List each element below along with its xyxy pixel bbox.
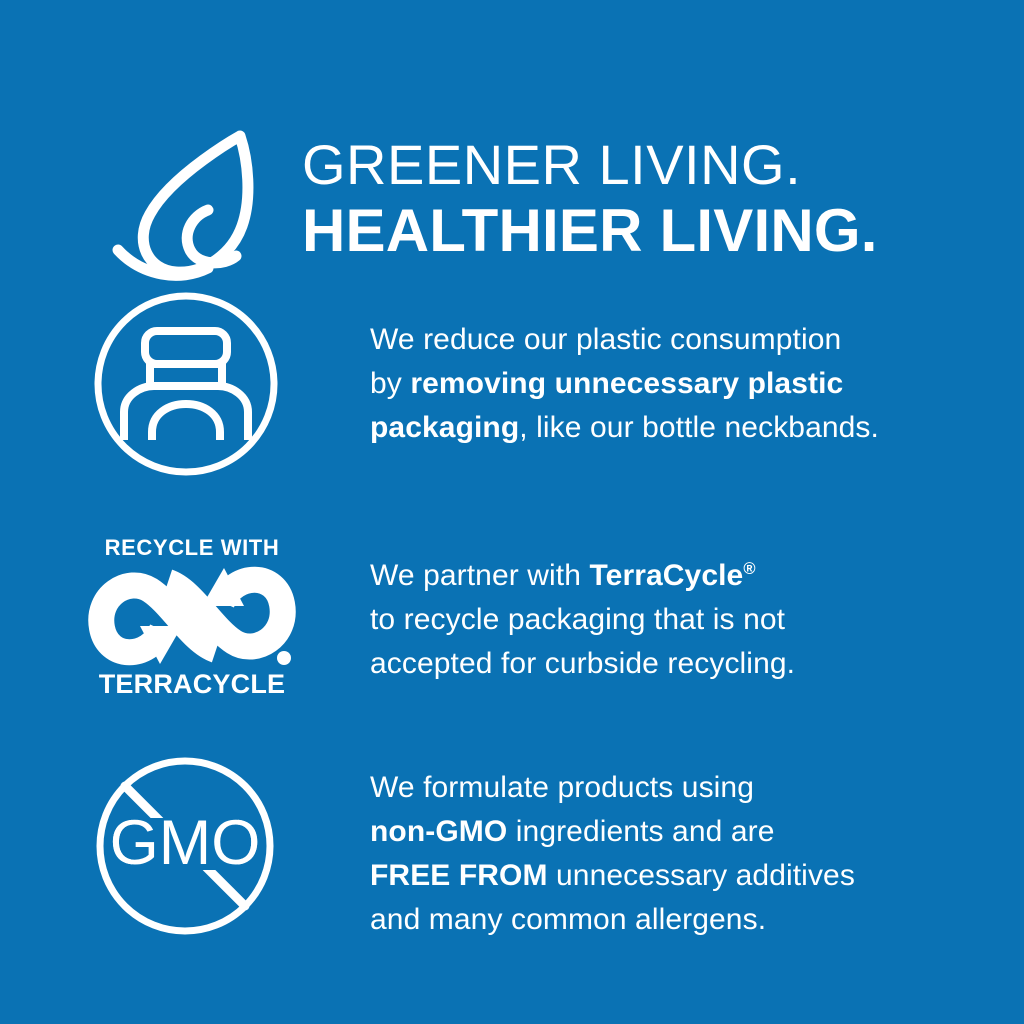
benefit-line: and many common allergens.: [370, 898, 990, 942]
benefit-text: accepted for curbside recycling.: [370, 647, 795, 680]
header-title-group: GREENER LIVING. HEALTHIER LIVING.: [302, 134, 1002, 264]
benefit-text-terracycle: We partner with TerraCycle®to recycle pa…: [370, 554, 990, 686]
page-title-line-2: HEALTHIER LIVING.: [302, 198, 1002, 264]
benefit-line: non-GMO ingredients and are: [370, 810, 990, 854]
benefit-line: We reduce our plastic consumption: [370, 318, 990, 362]
benefit-text: and many common allergens.: [370, 903, 766, 936]
benefit-line: FREE FROM unnecessary additives: [370, 854, 990, 898]
no-gmo-icon: GMO GMO: [92, 758, 292, 958]
benefit-line: packaging, like our bottle neckbands.: [370, 406, 990, 450]
benefit-text: to recycle packaging that is not: [370, 603, 785, 636]
benefit-emphasis: removing unnecessary plastic: [410, 367, 843, 400]
benefit-line: by removing unnecessary plastic: [370, 362, 990, 406]
benefit-emphasis: FREE FROM: [370, 859, 548, 892]
benefit-text: We reduce our plastic consumption: [370, 323, 841, 356]
benefit-text: We formulate products using: [370, 771, 754, 804]
benefit-row-terracycle: RECYCLE WITH: [0, 528, 1024, 718]
benefit-line: We formulate products using: [370, 766, 990, 810]
benefit-text: unnecessary additives: [548, 859, 855, 892]
bottle-neckband-icon: [92, 290, 292, 490]
benefit-text-plastic: We reduce our plastic consumptionby remo…: [370, 318, 990, 450]
benefit-line: accepted for curbside recycling.: [370, 642, 990, 686]
recycle-infinity-icon: [88, 564, 296, 668]
promo-graphic: GREENER LIVING. HEALTHIER LIVING. We red…: [0, 0, 1024, 1024]
benefit-text: ingredients and are: [507, 815, 774, 848]
leaf-icon: [112, 130, 282, 282]
svg-text:GMO: GMO: [110, 808, 261, 878]
benefit-text: , like our bottle neckbands.: [519, 411, 879, 444]
benefit-row-gmo: GMO GMO We formulate products usingnon-G…: [0, 758, 1024, 958]
benefit-text-gmo: We formulate products usingnon-GMO ingre…: [370, 766, 990, 942]
page-title-line-1: GREENER LIVING.: [302, 134, 1002, 196]
benefit-emphasis: TerraCycle®: [589, 559, 755, 592]
benefit-text: by: [370, 367, 410, 400]
header-banner: GREENER LIVING. HEALTHIER LIVING.: [0, 62, 1024, 232]
benefit-row-plastic: We reduce our plastic consumptionby remo…: [0, 290, 1024, 500]
registered-trademark-mark: ®: [743, 560, 755, 578]
terracycle-logo-bottom-text: TERRACYCLE: [88, 670, 296, 698]
terracycle-logo-top-text: RECYCLE WITH: [88, 536, 296, 560]
benefit-emphasis: non-GMO: [370, 815, 507, 848]
benefit-text: We partner with: [370, 559, 589, 592]
benefit-line: We partner with TerraCycle®: [370, 554, 990, 598]
terracycle-logo-icon: RECYCLE WITH: [88, 536, 296, 708]
benefit-emphasis: packaging: [370, 411, 519, 444]
benefit-line: to recycle packaging that is not: [370, 598, 990, 642]
